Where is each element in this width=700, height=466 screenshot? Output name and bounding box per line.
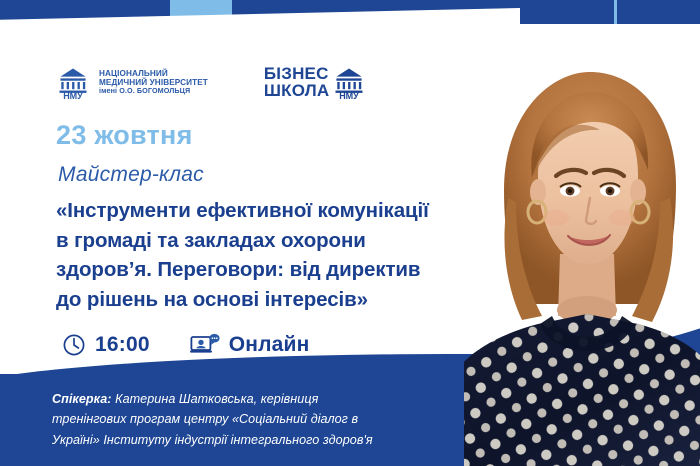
event-title-line-2: в громаді та закладах охорони	[56, 226, 476, 256]
event-meta-row: 16:00 Онлайн	[62, 333, 310, 357]
event-date: 23 жовтня	[56, 120, 193, 151]
event-title: «Інструменти ефективної комунікації в гр…	[56, 196, 476, 315]
event-time-label: 16:00	[95, 333, 150, 357]
event-title-line-4: до рішень на основі інтересів»	[56, 285, 476, 315]
business-school-line1: БІЗНЕС	[264, 65, 329, 82]
clock-icon	[62, 333, 86, 357]
speaker-line-3: Україні» Інституту індустрії інтегрально…	[52, 430, 452, 450]
online-meeting-icon	[190, 333, 220, 357]
speaker-name-part: Катерина Шатковська, керівниця	[112, 392, 319, 406]
event-poster: НМУ НАЦІОНАЛЬНИЙ МЕДИЧНИЙ УНІВЕРСИТЕТ ім…	[0, 0, 700, 466]
event-format-label: Онлайн	[229, 333, 310, 357]
business-school-line2: ШКОЛА	[264, 82, 329, 99]
event-time: 16:00	[62, 333, 150, 357]
event-format: Онлайн	[190, 333, 310, 357]
nmu-emblem-icon: НМУ	[55, 64, 91, 100]
svg-text:НМУ: НМУ	[340, 91, 360, 100]
svg-text:НМУ: НМУ	[63, 91, 83, 100]
logo-bar: НМУ НАЦІОНАЛЬНИЙ МЕДИЧНИЙ УНІВЕРСИТЕТ ім…	[55, 64, 367, 100]
speaker-info: Спікерка: Катерина Шатковська, керівниця…	[52, 389, 452, 450]
university-logo-line3: імені О.О. БОГОМОЛЬЦЯ	[99, 87, 208, 95]
event-kind: Майстер-клас	[58, 163, 204, 187]
speaker-line-1: Спікерка: Катерина Шатковська, керівниця	[52, 389, 452, 409]
speaker-line-2: тренінгових програм центру «Соціальний д…	[52, 409, 452, 429]
business-school-logo: БІЗНЕС ШКОЛА НМУ	[264, 64, 367, 100]
event-title-line-3: здоров’я. Переговори: від директив	[56, 255, 476, 285]
event-title-line-1: «Інструменти ефективної комунікації	[56, 196, 476, 226]
nmu-emblem-icon: НМУ	[331, 64, 367, 100]
university-logo: НМУ НАЦІОНАЛЬНИЙ МЕДИЧНИЙ УНІВЕРСИТЕТ ім…	[55, 64, 208, 100]
speaker-label: Спікерка:	[52, 392, 112, 406]
university-logo-line1: НАЦІОНАЛЬНИЙ	[99, 69, 208, 78]
